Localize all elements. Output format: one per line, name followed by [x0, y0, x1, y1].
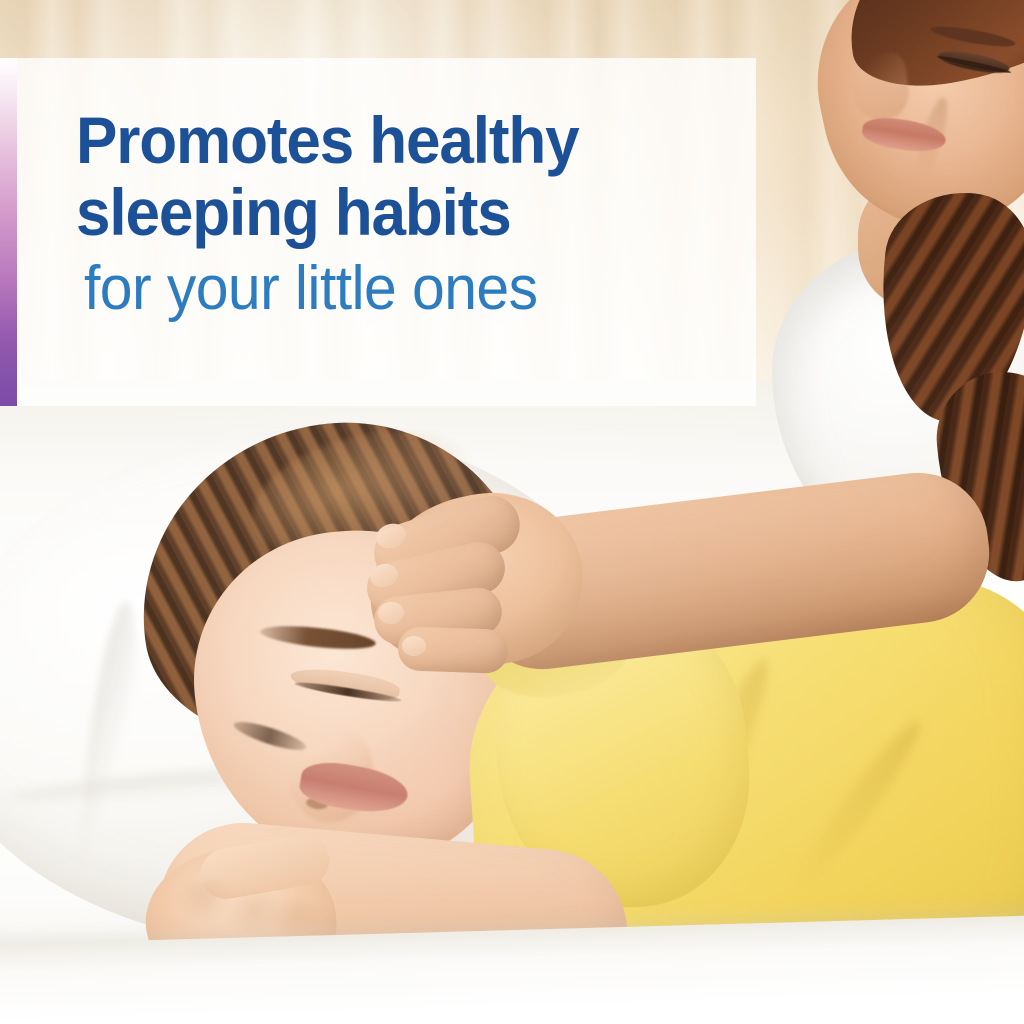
- promo-banner: Promotes healthy sleeping habits for you…: [0, 0, 1024, 1024]
- subheadline-line-1: for your little ones: [84, 254, 703, 324]
- headline-line-1: Promotes healthy: [76, 104, 696, 176]
- headline-block: Promotes healthy sleeping habits for you…: [76, 104, 736, 324]
- headline-line-2: sleeping habits: [76, 176, 696, 248]
- gradient-accent-strip: [0, 58, 17, 406]
